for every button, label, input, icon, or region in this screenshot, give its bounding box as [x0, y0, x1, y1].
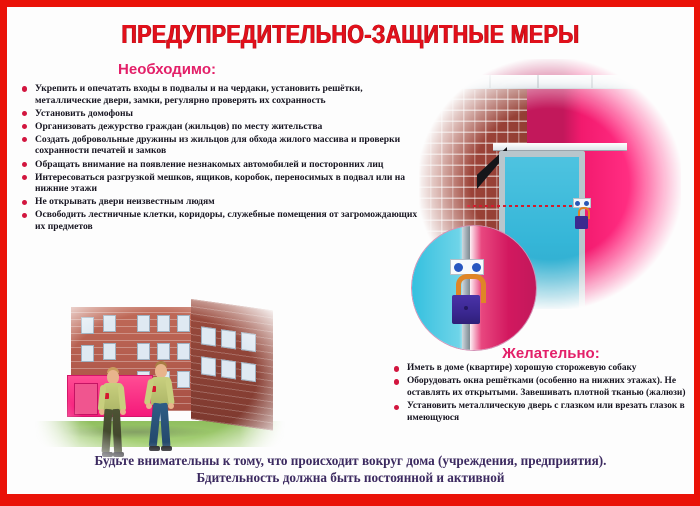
- trouser-leg: [101, 409, 112, 453]
- ground-shadow: [61, 425, 211, 439]
- building-window: [157, 315, 170, 332]
- window-mullion: [591, 75, 593, 88]
- building-window: [221, 329, 236, 349]
- building-window: [103, 343, 116, 360]
- poster-frame: ПРЕДУПРЕДИТЕЛЬНО-ЗАЩИТНЫЕ МЕРЫ Необходим…: [0, 0, 700, 506]
- list-item: Обращать внимание на появление незнакомы…: [19, 159, 419, 171]
- building-window: [137, 315, 150, 332]
- footer-line-1: Будьте внимательны к тому, что происходи…: [7, 452, 694, 469]
- list-item: Освободить лестничные клетки, коридоры, …: [19, 209, 419, 232]
- window-mullion: [489, 75, 491, 88]
- padlock-icon: [575, 207, 588, 229]
- desirable-measures-list: Иметь в доме (квартире) хорошую сторожев…: [391, 363, 691, 426]
- building-window: [241, 362, 256, 382]
- building-window: [177, 343, 190, 360]
- head: [155, 364, 167, 378]
- building-window: [177, 315, 190, 332]
- desirable-section-heading: Желательно:: [405, 345, 694, 362]
- basement-window-band: [441, 75, 651, 88]
- jeans-leg: [159, 403, 170, 447]
- list-item: Укрепить и опечатать входы в подвалы и н…: [19, 83, 419, 106]
- building-window: [201, 326, 216, 346]
- list-item: Не открывать двери неизвестным людям: [19, 196, 419, 208]
- page-title: ПРЕДУПРЕДИТЕЛЬНО-ЗАЩИТНЫЕ МЕРЫ: [69, 19, 632, 50]
- list-item: Организовать дежурство граждан (жильцов)…: [19, 121, 419, 133]
- seal-stamp-right: [472, 263, 481, 272]
- building-window: [241, 332, 256, 352]
- patrol-man: [99, 367, 131, 463]
- padlock-body: [452, 295, 480, 324]
- padlock-body: [575, 216, 588, 229]
- kiosk-door: [74, 383, 98, 415]
- footer-line-2: Бдительность должна быть постоянной и ак…: [7, 469, 694, 486]
- list-item: Интересоваться разгрузкой мешков, ящиков…: [19, 172, 419, 195]
- building-window: [137, 343, 150, 360]
- legs: [151, 403, 171, 449]
- seal-stamp-left: [575, 201, 580, 206]
- list-item: Установить домофоны: [19, 108, 419, 120]
- list-item: Создать добровольные дружины из жильцов …: [19, 134, 419, 157]
- paper-seal-icon: [450, 259, 484, 275]
- poster-sheet: ПРЕДУПРЕДИТЕЛЬНО-ЗАЩИТНЫЕ МЕРЫ Необходим…: [7, 7, 694, 494]
- building-window: [81, 317, 94, 334]
- window-mullion: [537, 75, 539, 88]
- list-item: Установить металлическую дверь с глазком…: [391, 401, 691, 425]
- neighborhood-patrol-illustration: [35, 297, 285, 465]
- building-window: [201, 356, 216, 376]
- building-window: [221, 359, 236, 379]
- building-window: [103, 315, 116, 332]
- shoe: [149, 446, 160, 451]
- head: [107, 370, 119, 384]
- door-canopy: [493, 143, 627, 151]
- patrol-man: [147, 361, 179, 461]
- legs: [103, 409, 123, 455]
- required-measures-list: Укрепить и опечатать входы в подвалы и н…: [19, 83, 419, 234]
- magnified-padlock-and-seal: [411, 225, 537, 351]
- list-item: Иметь в доме (квартире) хорошую сторожев…: [391, 363, 691, 375]
- seal-stamp-right: [584, 201, 589, 206]
- footer-callout: Будьте внимательны к тому, что происходи…: [7, 452, 694, 486]
- seal-stamp-left: [454, 263, 463, 272]
- list-item: Оборудовать окна решётками (особенно на …: [391, 376, 691, 400]
- shoe: [161, 446, 172, 451]
- padlock-icon: [452, 274, 480, 324]
- apartment-building-side: [191, 299, 273, 431]
- trouser-leg: [112, 409, 122, 453]
- building-window: [81, 345, 94, 362]
- building-window: [157, 343, 170, 360]
- required-section-heading: Необходимо:: [17, 61, 317, 78]
